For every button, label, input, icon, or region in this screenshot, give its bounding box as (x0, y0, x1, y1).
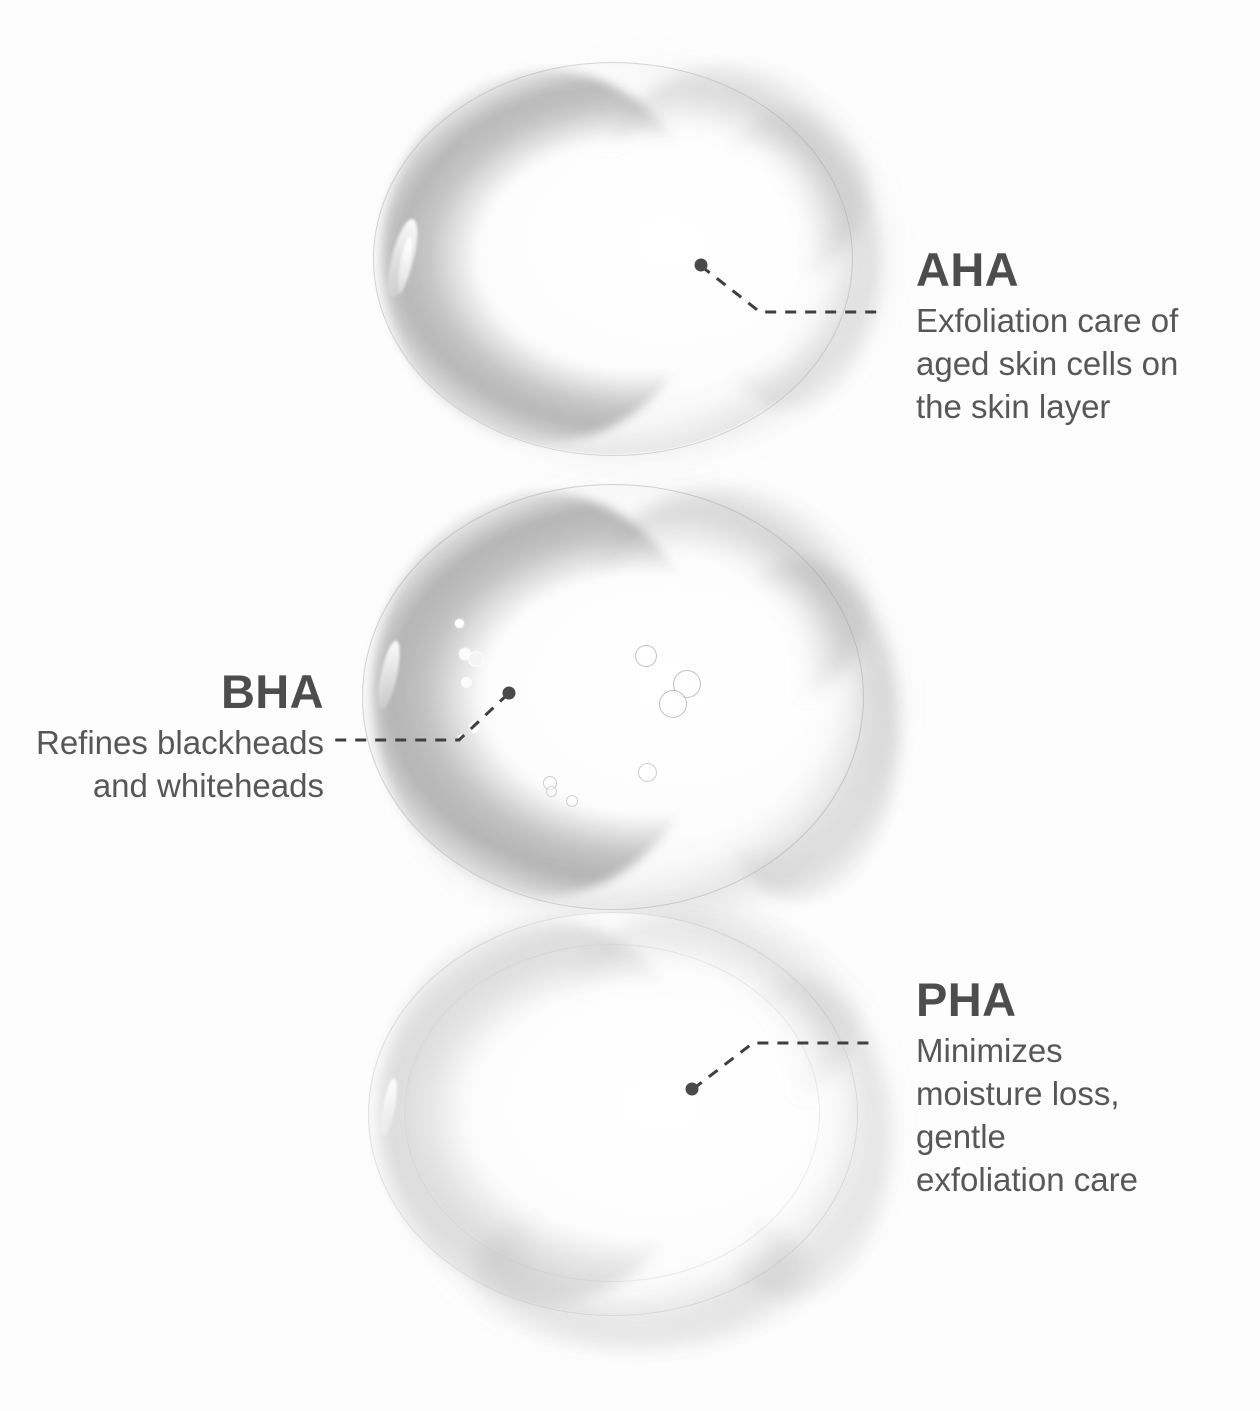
ring-bubble (673, 670, 701, 698)
droplet-bha-rim (362, 484, 864, 910)
droplet-pha-right-shade (700, 980, 890, 1300)
droplet-bha-halo (368, 490, 888, 920)
ring-bubble (638, 763, 657, 782)
ring-bubble (543, 776, 557, 790)
callout-pha-title: PHA (916, 976, 1156, 1024)
ring-bubble (635, 645, 657, 667)
micro-bubble (459, 648, 471, 660)
droplet-bha-crescent (372, 492, 712, 896)
micro-bubble (468, 651, 484, 667)
ring-bubble (546, 786, 557, 797)
droplet-pha-meniscus (404, 944, 820, 1282)
droplet-pha-crescent (378, 920, 708, 1304)
droplet-aha-rim (373, 62, 853, 456)
droplet-aha-specular (383, 217, 424, 300)
leader-bha (332, 687, 516, 741)
leader-aha (695, 259, 878, 313)
droplet-bha-specular (374, 639, 404, 711)
droplet-bha-body (362, 484, 862, 908)
micro-bubble (469, 722, 480, 733)
droplet-bha-right-shade (700, 560, 900, 900)
droplet-aha-crescent (381, 70, 711, 442)
droplet-pha-rim (368, 912, 858, 1316)
callout-bha: BHA Refines blackheads and whiteheads (30, 668, 324, 808)
droplet-aha-halo (378, 68, 878, 448)
droplet-pha-bottom-shade (470, 1200, 810, 1350)
droplet-aha-top-shade (600, 66, 870, 296)
callout-aha-title: AHA (916, 246, 1228, 294)
callout-bha-description: Refines blackheads and whiteheads (30, 722, 324, 808)
droplet-aha-specular-2 (395, 236, 415, 295)
droplet-pha-top-shade (560, 910, 860, 1120)
droplet-aha-body (373, 62, 851, 454)
ring-bubble (566, 795, 578, 807)
callout-pha: PHA Minimizes moisture loss, gentle exfo… (916, 976, 1156, 1202)
droplet-pha-body (368, 912, 856, 1314)
infographic-canvas: AHA Exfoliation care of aged skin cells … (0, 0, 1260, 1411)
leader-pha (686, 1043, 878, 1096)
micro-bubble (455, 619, 464, 628)
droplet-bha-top-shade (590, 488, 870, 718)
callout-bha-title: BHA (30, 668, 324, 716)
droplet-aha-right-lobe (700, 110, 880, 410)
micro-bubble (461, 677, 472, 688)
droplet-pha-specular (378, 1077, 400, 1136)
callout-aha-description: Exfoliation care of aged skin cells on t… (916, 300, 1228, 429)
ring-bubble (659, 690, 687, 718)
micro-bubble (458, 734, 464, 740)
droplet-pha-halo (372, 918, 882, 1328)
callout-aha: AHA Exfoliation care of aged skin cells … (916, 246, 1228, 429)
callout-pha-description: Minimizes moisture loss, gentle exfoliat… (916, 1030, 1156, 1202)
